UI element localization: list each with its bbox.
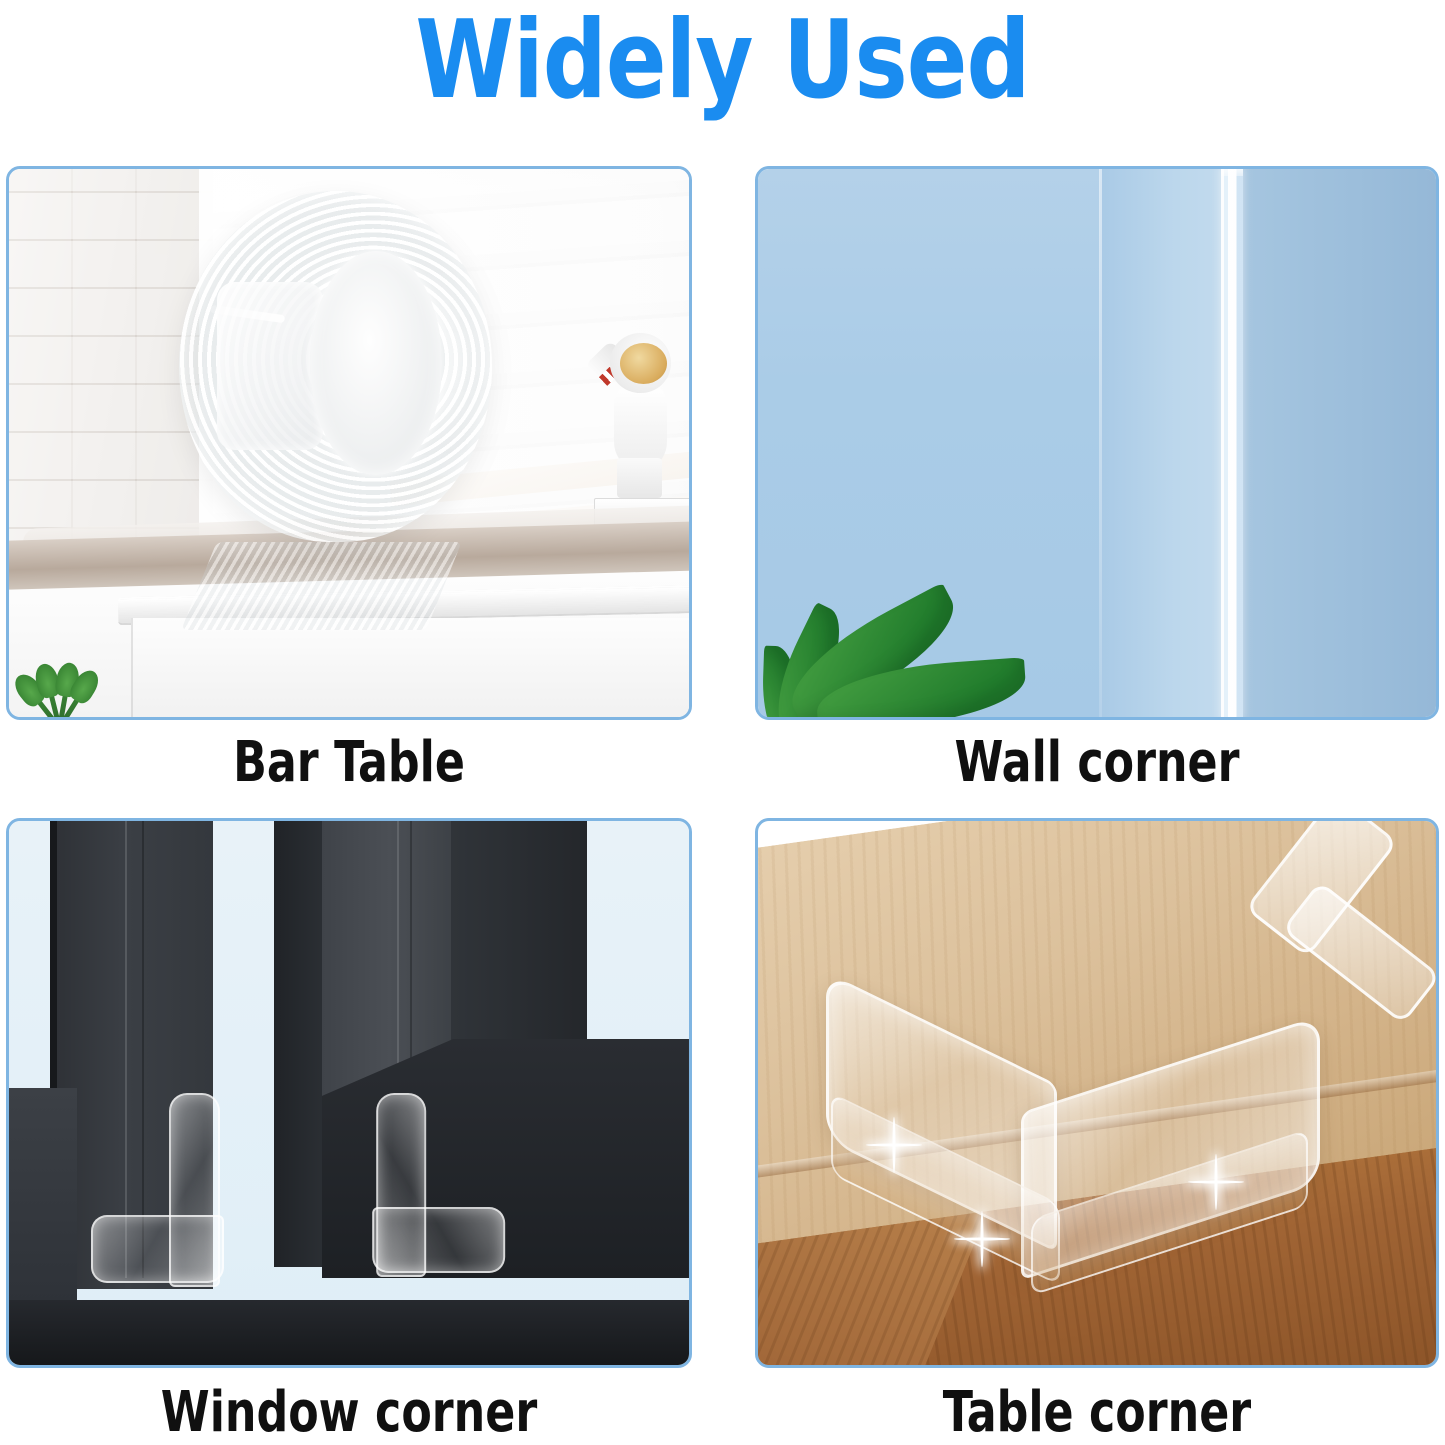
clear-corner-guard-installed: [826, 1028, 1314, 1289]
wall-surface-right: [1233, 169, 1436, 717]
page-title: Widely Used: [58, 0, 1387, 122]
window-frame-divider: [274, 818, 328, 1267]
clear-corner-guard-strip: [1221, 166, 1243, 720]
table-corner-scene-image: [758, 821, 1436, 1365]
caption-window-corner: Window corner: [47, 1385, 651, 1441]
potted-plant: [6, 618, 111, 720]
window-corner-scene-image: [9, 821, 689, 1365]
clear-corner-protector-right: [376, 1093, 505, 1273]
green-plant: [755, 454, 1056, 720]
panel-window-corner[interactable]: [6, 818, 692, 1368]
wall-corner-scene-image: [758, 169, 1436, 717]
wall-seam: [1099, 169, 1102, 717]
wall-surface-middle: [1100, 169, 1236, 717]
window-frame-far-right: [451, 818, 587, 1060]
bar-table-scene-image: [9, 169, 689, 717]
panel-bar-table[interactable]: [6, 166, 692, 720]
caption-table-corner: Table corner: [796, 1385, 1398, 1441]
caption-wall-corner: Wall corner: [796, 735, 1398, 791]
caption-bar-table: Bar Table: [47, 735, 651, 791]
window-sill-left: [6, 1088, 77, 1306]
clear-corner-protector-left: [91, 1093, 220, 1283]
tape-roll-reflection: [182, 542, 462, 630]
astronaut-figurine: [597, 333, 679, 497]
corner-guard-top-cap: [1221, 166, 1243, 176]
clear-tape-roll: [179, 191, 492, 542]
panel-table-corner[interactable]: [755, 818, 1439, 1368]
panel-wall-corner[interactable]: [755, 166, 1439, 720]
cabinet-front: [131, 618, 692, 720]
window-bottom-rail: [6, 1300, 692, 1368]
